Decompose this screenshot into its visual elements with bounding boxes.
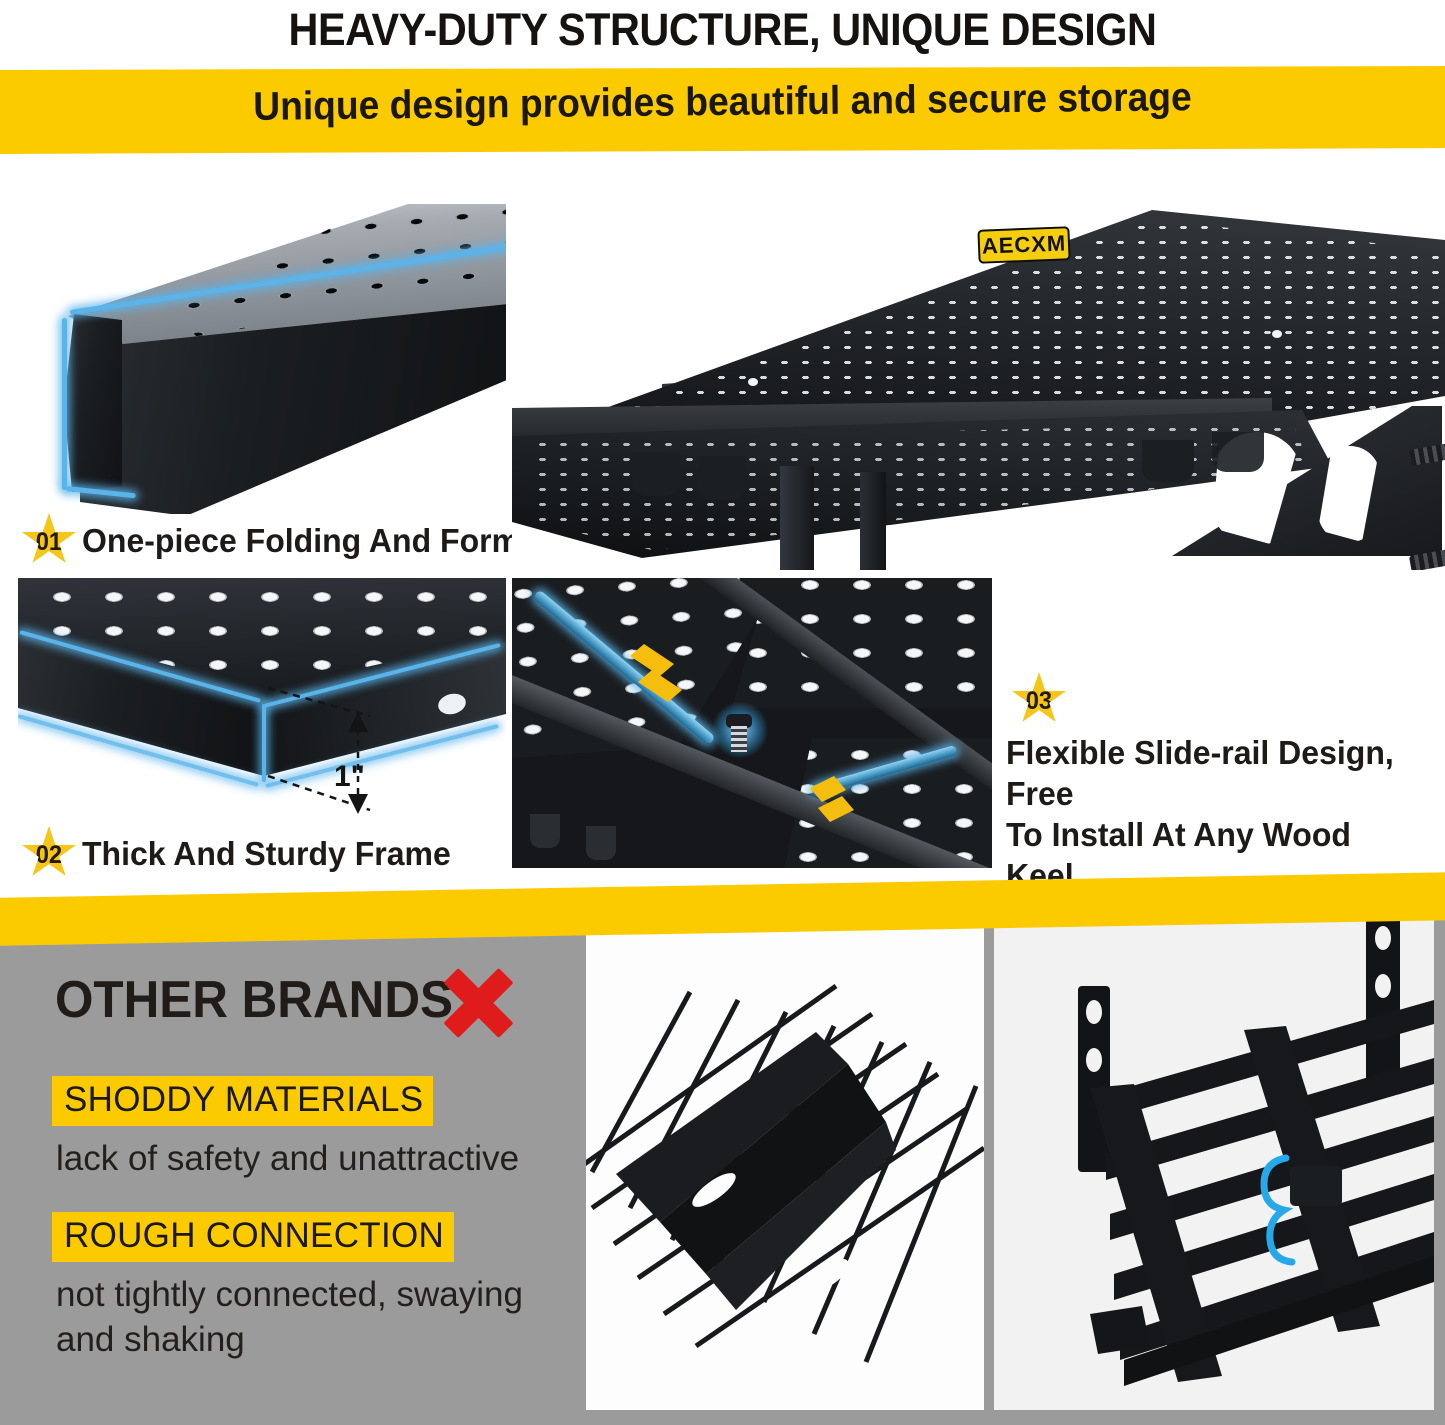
feature-label-01: One-piece Folding And Forming bbox=[82, 522, 568, 560]
feature-badge-03: 03 bbox=[1012, 672, 1066, 726]
chevron-arrows-icon bbox=[512, 578, 992, 868]
photo-wire-mesh-rack bbox=[586, 922, 984, 1410]
comparison-heading-1: SHODDY MATERIALS bbox=[52, 1076, 433, 1126]
comparison-description-1: lack of safety and unattractive bbox=[56, 1136, 519, 1181]
feature-number-03: 03 bbox=[1026, 687, 1052, 716]
brand-badge: AECXM bbox=[977, 226, 1070, 264]
infographic-page: HEAVY-DUTY STRUCTURE, UNIQUE DESIGN Uniq… bbox=[0, 0, 1445, 1425]
comparison-description-2: not tightly connected, swayingand shakin… bbox=[56, 1272, 596, 1362]
photo-thick-sturdy-frame bbox=[18, 578, 506, 846]
feature-label-02: Thick And Sturdy Frame bbox=[82, 835, 451, 873]
comparison-title: OTHER BRANDS bbox=[55, 970, 453, 1030]
red-x-icon bbox=[432, 956, 524, 1048]
feature-badge-01: 01 bbox=[22, 513, 76, 567]
dimension-leader-lines bbox=[18, 578, 506, 846]
brand-name: AECXM bbox=[981, 230, 1066, 259]
photo-slide-rail-detail bbox=[512, 578, 992, 868]
comparison-heading-2: ROUGH CONNECTION bbox=[52, 1212, 454, 1262]
page-title: HEAVY-DUTY STRUCTURE, UNIQUE DESIGN bbox=[58, 4, 1387, 56]
photo-bar-frame-rack bbox=[994, 908, 1434, 1410]
dimension-value: 1" bbox=[334, 760, 365, 794]
photo-one-piece-folding bbox=[18, 186, 506, 516]
feature-number-01: 01 bbox=[36, 528, 62, 557]
